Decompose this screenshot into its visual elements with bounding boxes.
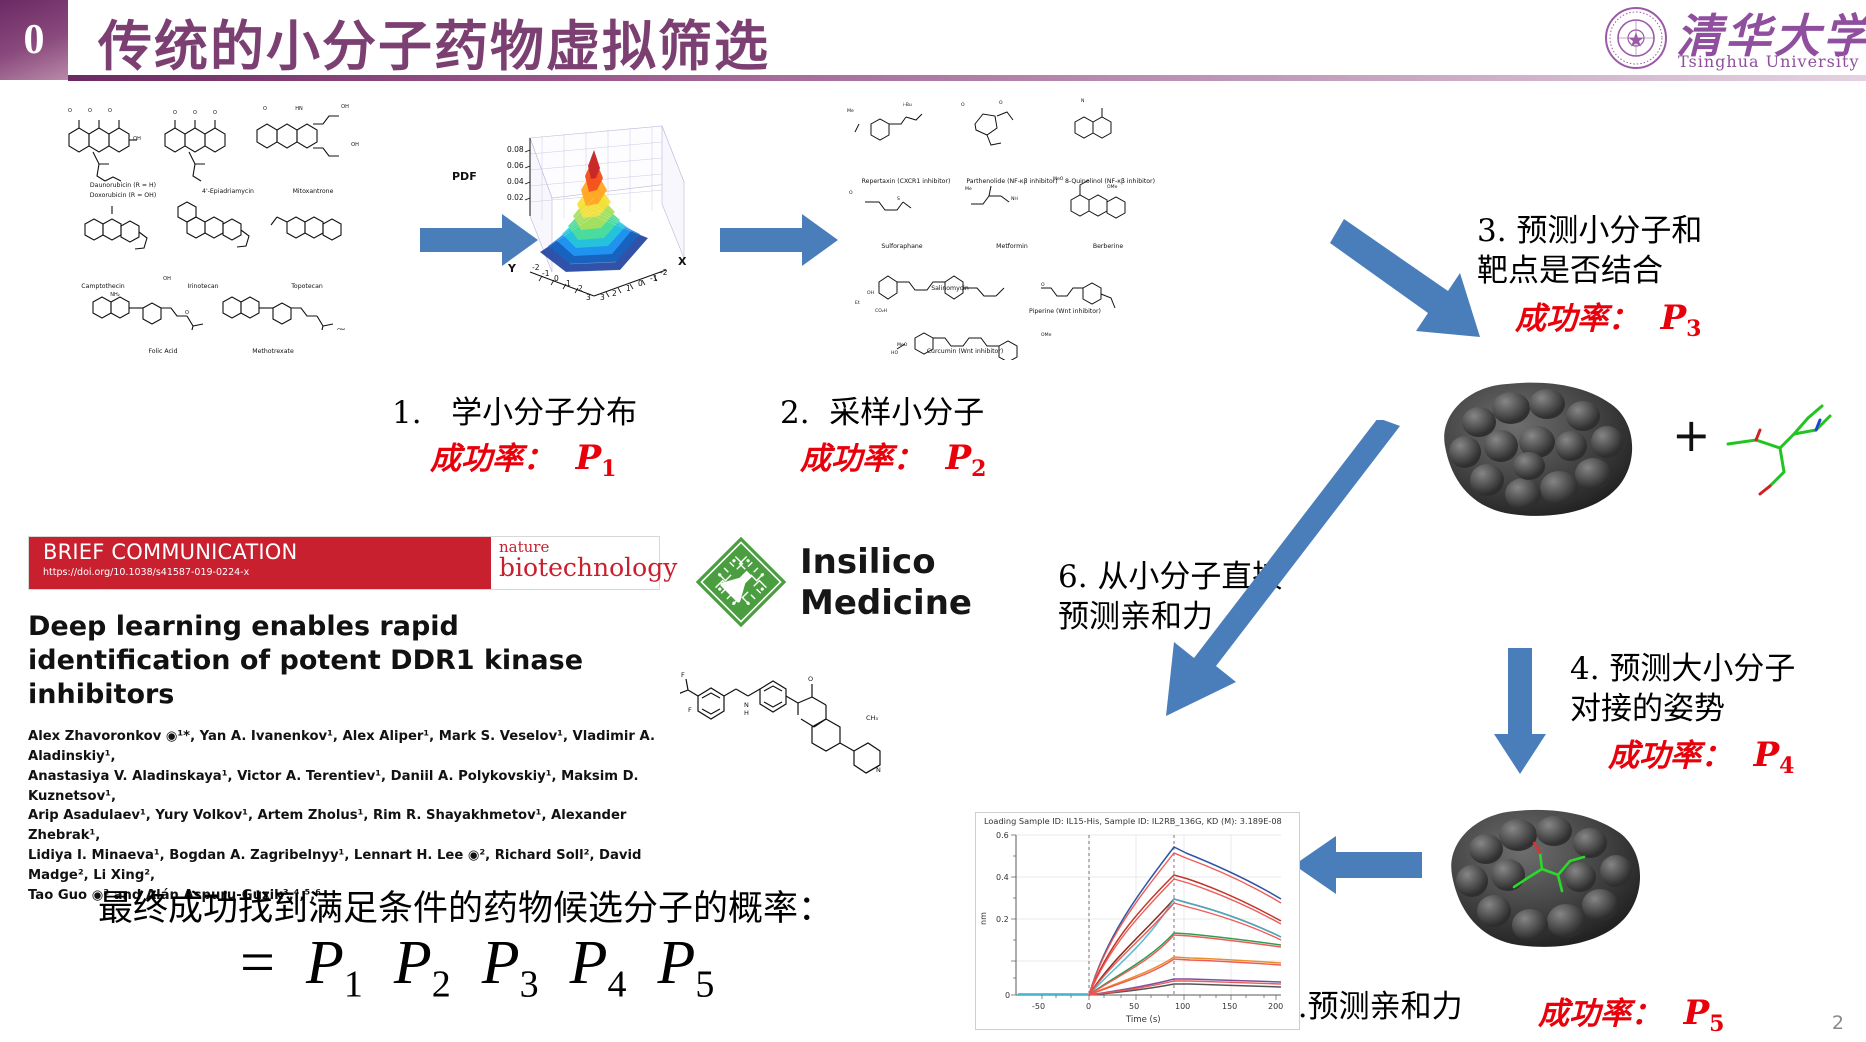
step-5-rate: 成功率： P5 xyxy=(1538,988,1724,1037)
molecule-structures-left-icon: OOO OH OO O OHN OH OH OHO NH₂OH xyxy=(55,100,365,330)
step-5-text: 预测亲和力 xyxy=(1308,989,1463,1025)
svg-text:Me: Me xyxy=(965,186,972,192)
arrow-diagonal-down-left-icon xyxy=(1150,420,1410,730)
svg-text:O: O xyxy=(88,108,92,114)
svg-text:OH: OH xyxy=(341,104,349,110)
svg-text:200: 200 xyxy=(1268,1002,1283,1011)
svg-text:0.4: 0.4 xyxy=(996,873,1009,882)
step-5-rate-symbol: P xyxy=(1684,993,1710,1033)
step-5-rate-label: 成功率： xyxy=(1538,996,1662,1032)
insilico-wordmark: Insilico Medicine xyxy=(800,542,972,625)
step-6-number: 6. xyxy=(1058,559,1088,595)
ddr1-inhibitor-structure-icon: FFF NH O CH₃ N xyxy=(680,660,900,800)
paper-doi: https://doi.org/10.1038/s41587-019-0224-… xyxy=(43,568,491,578)
svg-text:F: F xyxy=(688,706,692,714)
molecule-caption: Sulforaphane xyxy=(852,243,952,250)
svg-text:N: N xyxy=(744,701,749,709)
svg-text:CO₂H: CO₂H xyxy=(875,308,887,314)
pdf-axis-label-z: PDF xyxy=(452,170,477,183)
svg-text:NH₂: NH₂ xyxy=(110,292,120,298)
svg-text:NH: NH xyxy=(1011,196,1018,202)
insilico-diamond-icon xyxy=(692,532,790,632)
svg-text:O: O xyxy=(263,106,267,112)
tsinghua-logo: 清华大学 Tsinghua University xyxy=(1604,4,1854,78)
step-2-number: 2. xyxy=(780,395,810,431)
arrow-left-icon xyxy=(1290,832,1422,898)
paper-title: Deep learning enables rapid identificati… xyxy=(28,610,660,711)
molecule-caption: Daunorubicin (R = H) xyxy=(58,182,188,189)
svg-text:OH: OH xyxy=(351,142,359,148)
svg-text:0: 0 xyxy=(638,279,643,288)
tsinghua-name-en: Tsinghua University xyxy=(1678,52,1859,71)
paper-author-line: Alex Zhavoronkov ◉¹*, Yan A. Ivanenkov¹,… xyxy=(28,727,660,767)
step-3-rate-sub: 3 xyxy=(1686,316,1701,342)
svg-text:O: O xyxy=(68,108,72,114)
svg-text:-2: -2 xyxy=(660,268,668,277)
pdf-axis-label-x: X xyxy=(678,255,686,268)
svg-text:1: 1 xyxy=(626,284,631,293)
molecule-caption: Salinomycin xyxy=(900,285,1000,292)
svg-text:-2: -2 xyxy=(532,263,540,272)
step-4-rate-label: 成功率： xyxy=(1608,738,1732,774)
paper-author-line: Arip Asadulaev¹, Yury Volkov¹, Artem Zho… xyxy=(28,806,660,846)
journal-name-line2: biotechnology xyxy=(499,555,659,581)
formula-term-4-sub: 4 xyxy=(607,963,626,1005)
svg-text:Me: Me xyxy=(847,108,854,114)
svg-text:HN: HN xyxy=(295,106,303,112)
step-1-number: 1. xyxy=(392,395,422,431)
protein-surface-icon xyxy=(1425,370,1650,530)
svg-text:0.08: 0.08 xyxy=(507,145,524,154)
svg-text:O: O xyxy=(108,108,112,114)
svg-text:2: 2 xyxy=(612,289,617,298)
svg-text:150: 150 xyxy=(1222,1002,1237,1011)
step-1-label: 1. 学小分子分布 xyxy=(392,394,637,434)
step-1-text: 学小分子分布 xyxy=(451,395,637,431)
ddr1-inhibitor-molecule: FFF NH O CH₃ N xyxy=(680,660,900,800)
step-2-rate: 成功率： P2 xyxy=(800,433,986,482)
svg-text:HO: HO xyxy=(891,350,898,356)
molecule-structures-right-icon: Mei-Bu OO N OS MeNH MeOOMe OHEtCO₂H O Me… xyxy=(845,98,1155,360)
svg-text:0: 0 xyxy=(1005,991,1010,1000)
svg-text:0.04: 0.04 xyxy=(507,177,524,186)
bli-curves-icon: 0.60.4 0.20 -500 50100 150200 xyxy=(976,827,1301,1017)
pdf-surface-chart-icon: 0.080.06 0.040.02 -2-1 01 23 32 10 -1-2 xyxy=(470,120,720,315)
molecule-caption: 8-Quinolinol (NF-кβ inhibitor) xyxy=(1050,178,1170,185)
step-4-rate-symbol: P xyxy=(1754,735,1780,775)
svg-text:O: O xyxy=(999,100,1003,106)
arrow-right-2-icon xyxy=(720,212,840,268)
molecule-caption: Curcumin (Wnt inhibitor) xyxy=(900,348,1030,355)
slide-number-badge: 0 xyxy=(0,0,68,80)
formula-term-3-sub: 3 xyxy=(520,963,539,1005)
svg-text:N: N xyxy=(876,766,881,774)
svg-text:OH: OH xyxy=(163,276,171,282)
step-4-label: 4. 预测大小分子 对接的姿势 xyxy=(1570,650,1795,729)
molecule-caption: Camptothecin xyxy=(58,283,148,290)
ligand-stick-icon xyxy=(1722,400,1852,510)
svg-text:-50: -50 xyxy=(1032,1002,1045,1011)
formula-term-2-symbol: P xyxy=(394,929,432,997)
step-4-rate: 成功率： P4 xyxy=(1608,730,1794,779)
svg-text:S: S xyxy=(897,196,900,202)
molecule-panel-left: OOO OH OO O OHN OH OH OHO NH₂OH xyxy=(55,100,365,330)
formula-term-2-sub: 2 xyxy=(432,963,451,1005)
ligand-molecule-stick xyxy=(1722,400,1852,510)
step-5-rate-sub: 5 xyxy=(1709,1011,1724,1037)
formula-term-5-symbol: P xyxy=(657,929,695,997)
bli-caption: Loading Sample ID: IL15-His, Sample ID: … xyxy=(984,816,1282,826)
protein-surface-docked-icon xyxy=(1430,795,1655,960)
conclusion-text: 最终成功找到满足条件的药物候选分子的概率： xyxy=(98,880,833,931)
step-4-text-line1: 预测大小分子 xyxy=(1609,651,1795,687)
arrow-down-icon xyxy=(1492,648,1548,776)
svg-text:OH: OH xyxy=(337,328,345,330)
slide-root: 0 传统的小分子药物虚拟筛选 清华大学 Tsinghua University xyxy=(0,0,1866,1042)
svg-text:O: O xyxy=(961,102,965,108)
formula-equals: = xyxy=(240,929,275,997)
formula-term-3-symbol: P xyxy=(482,929,520,997)
svg-text:i-Bu: i-Bu xyxy=(903,102,912,108)
step-5-label: 5.预测亲和力 xyxy=(1278,988,1463,1028)
step-2-label: 2. 采样小分子 xyxy=(780,394,984,434)
tsinghua-seal-icon xyxy=(1604,6,1668,70)
pdf-surface-plot: 0.080.06 0.040.02 -2-1 01 23 32 10 -1-2 … xyxy=(470,120,720,315)
step-1-rate-symbol: P xyxy=(576,438,602,478)
formula-term-4-symbol: P xyxy=(570,929,608,997)
svg-text:O: O xyxy=(173,110,177,116)
plus-sign: + xyxy=(1672,408,1711,462)
step-4-rate-sub: 4 xyxy=(1779,753,1794,779)
svg-text:0.2: 0.2 xyxy=(996,915,1009,924)
svg-text:0.6: 0.6 xyxy=(996,831,1009,840)
svg-text:O: O xyxy=(1041,282,1045,288)
paper-section-banner: BRIEF COMMUNICATION https://doi.org/10.1… xyxy=(29,537,491,589)
svg-text:H: H xyxy=(744,709,749,717)
step-2-text: 采样小分子 xyxy=(829,395,984,431)
molecule-caption: Piperine (Wnt inhibitor) xyxy=(1010,308,1120,315)
svg-text:O: O xyxy=(185,310,189,316)
paper-header-bar: BRIEF COMMUNICATION https://doi.org/10.1… xyxy=(28,536,660,590)
molecule-caption: Methotrexate xyxy=(228,348,318,355)
svg-text:100: 100 xyxy=(1175,1002,1190,1011)
svg-text:O: O xyxy=(808,675,813,683)
step-2-rate-symbol: P xyxy=(946,438,972,478)
molecule-caption: Irinotecan xyxy=(158,283,248,290)
step-1-rate-sub: 1 xyxy=(601,456,616,482)
protein-surface-docked xyxy=(1430,795,1655,960)
paper-card: BRIEF COMMUNICATION https://doi.org/10.1… xyxy=(28,536,660,905)
paper-authors: Alex Zhavoronkov ◉¹*, Yan A. Ivanenkov¹,… xyxy=(28,727,660,905)
svg-text:O: O xyxy=(193,110,197,116)
header-divider xyxy=(68,75,1866,81)
conclusion-formula: = P1 P2 P3 P4 P5 xyxy=(240,928,714,1006)
svg-text:O: O xyxy=(849,190,853,196)
svg-text:F: F xyxy=(681,671,685,679)
molecule-caption: Mitoxantrone xyxy=(268,188,358,195)
svg-text:OMe: OMe xyxy=(1041,332,1052,338)
svg-text:OH: OH xyxy=(867,290,874,296)
svg-text:0: 0 xyxy=(554,274,559,283)
svg-text:CH₃: CH₃ xyxy=(866,714,878,722)
step-2-rate-label: 成功率： xyxy=(800,441,924,477)
svg-text:-1: -1 xyxy=(650,274,658,283)
insilico-line2: Medicine xyxy=(800,583,972,624)
step-2-rate-sub: 2 xyxy=(971,456,986,482)
paper-section-label: BRIEF COMMUNICATION xyxy=(43,542,491,563)
molecule-caption: Doxorubicin (R = OH) xyxy=(58,192,188,199)
formula-term-5-sub: 5 xyxy=(695,963,714,1005)
molecule-caption: Topotecan xyxy=(262,283,352,290)
svg-text:N: N xyxy=(1081,98,1084,104)
formula-term-1-sub: 1 xyxy=(344,963,363,1005)
molecule-caption: 4'-Epiadriamycin xyxy=(178,188,278,195)
molecule-caption: Metformin xyxy=(962,243,1062,250)
svg-text:OH: OH xyxy=(133,136,141,142)
svg-text:O: O xyxy=(213,110,217,116)
svg-text:3: 3 xyxy=(586,293,591,302)
page-number: 2 xyxy=(1832,1012,1844,1034)
svg-text:50: 50 xyxy=(1129,1002,1139,1011)
journal-logo: nature biotechnology xyxy=(491,537,659,589)
insilico-line1: Insilico xyxy=(800,542,972,583)
svg-text:0.02: 0.02 xyxy=(507,193,524,202)
svg-text:0.06: 0.06 xyxy=(507,161,524,170)
molecule-caption: Folic Acid xyxy=(118,348,208,355)
pdf-axis-label-y: Y xyxy=(508,262,516,275)
svg-text:1: 1 xyxy=(566,279,571,288)
bli-x-axis-label: Time (s) xyxy=(1126,1015,1161,1025)
step-1-rate: 成功率： P1 xyxy=(430,433,616,482)
svg-text:2: 2 xyxy=(578,284,583,293)
molecule-panel-right: Mei-Bu OO N OS MeNH MeOOMe OHEtCO₂H O Me… xyxy=(845,98,1155,360)
page-title: 传统的小分子药物虚拟筛选 xyxy=(98,2,770,81)
svg-text:-1: -1 xyxy=(542,269,550,278)
molecule-caption: Repertaxin (CXCR1 inhibitor) xyxy=(846,178,966,185)
step-3-rate-symbol: P xyxy=(1661,298,1687,338)
step-1-rate-label: 成功率： xyxy=(430,441,554,477)
formula-term-1-symbol: P xyxy=(306,929,344,997)
bli-sensorgram-chart: Loading Sample ID: IL15-His, Sample ID: … xyxy=(975,812,1300,1030)
svg-text:0: 0 xyxy=(1086,1002,1091,1011)
arrow-diagonal-down-right-icon xyxy=(1330,215,1540,375)
svg-text:3: 3 xyxy=(600,293,605,302)
step-4-number: 4. xyxy=(1570,651,1600,687)
molecule-caption: Berberine xyxy=(1058,243,1158,250)
protein-surface-top xyxy=(1425,370,1650,530)
step-4-text-line2: 对接的姿势 xyxy=(1570,690,1795,730)
paper-author-line: Anastasiya V. Aladinskaya¹, Victor A. Te… xyxy=(28,767,660,807)
step-3-rate: 成功率： P3 xyxy=(1515,293,1701,342)
insilico-medicine-logo: Insilico Medicine xyxy=(692,532,1002,642)
svg-text:Et: Et xyxy=(855,300,860,306)
step-3-text-line1: 预测小分子和 xyxy=(1516,213,1702,249)
